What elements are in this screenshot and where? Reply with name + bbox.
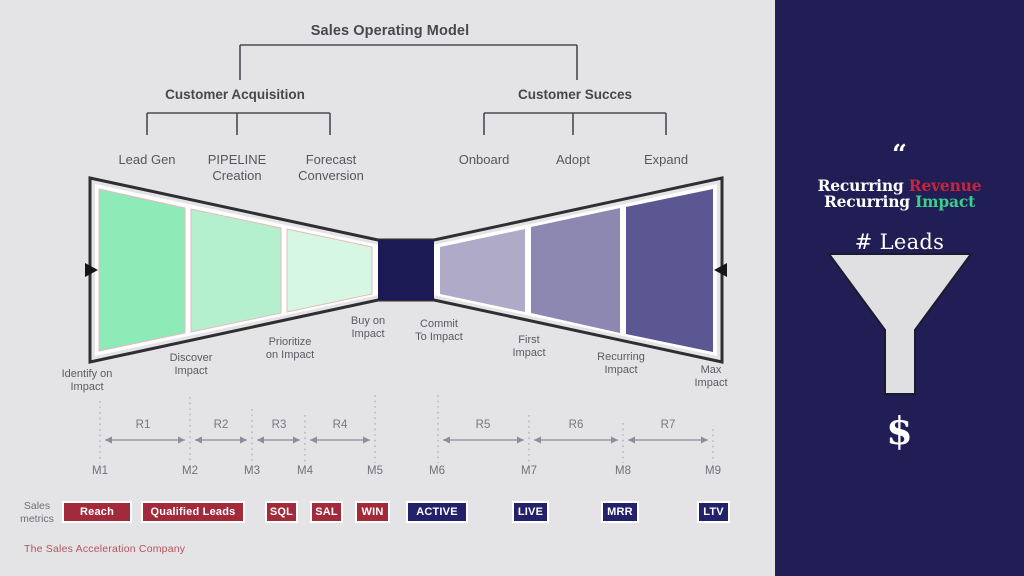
slogan-line-2-prefix: Recurring xyxy=(824,192,915,211)
metric-badge-win[interactable]: WIN xyxy=(355,501,390,523)
timeline-ratio-r3: R3 xyxy=(249,419,309,431)
metric-badge-active[interactable]: ACTIVE xyxy=(406,501,468,523)
branch-customer-acquisition: Customer Acquisition xyxy=(135,87,335,103)
sales-metrics-label: Sales metrics xyxy=(14,500,60,526)
stage-caption-prioritize: Prioritize on Impact xyxy=(245,336,335,362)
slogan-line-2: Recurring Impact xyxy=(775,192,1024,211)
timeline-milestone-m3: M3 xyxy=(222,465,282,477)
stage-caption-first: First Impact xyxy=(484,334,574,360)
slogan-line-2-accent: Impact xyxy=(915,192,975,211)
metric-badge-live[interactable]: LIVE xyxy=(512,501,549,523)
company-tagline: The Sales Acceleration Company xyxy=(24,543,185,555)
timeline-milestone-m4: M4 xyxy=(275,465,335,477)
timeline-ratio-r6: R6 xyxy=(546,419,606,431)
metric-badge-ltv[interactable]: LTV xyxy=(697,501,730,523)
metric-badge-reach[interactable]: Reach xyxy=(62,501,132,523)
timeline-milestone-m1: M1 xyxy=(70,465,130,477)
model-title: Sales Operating Model xyxy=(255,23,525,40)
stage-caption-max: Max Impact xyxy=(666,364,756,390)
timeline-milestone-m2: M2 xyxy=(160,465,220,477)
timeline-ratio-r5: R5 xyxy=(453,419,513,431)
dollar-sign-icon: $ xyxy=(775,412,1024,450)
metric-badge-mrr[interactable]: MRR xyxy=(601,501,639,523)
timeline-ratio-r4: R4 xyxy=(310,419,370,431)
metric-badge-qualified-leads[interactable]: Qualified Leads xyxy=(141,501,245,523)
funnel-segment-center xyxy=(378,240,434,300)
timeline-milestone-m6: M6 xyxy=(407,465,467,477)
timeline-ratio-r2: R2 xyxy=(191,419,251,431)
funnel-icon xyxy=(827,252,973,396)
stage-caption-identify: Identify on Impact xyxy=(42,368,132,394)
timeline-ratio-r1: R1 xyxy=(113,419,173,431)
funnel-segment-discover xyxy=(191,209,281,332)
branch-customer-success: Customer Succes xyxy=(475,87,675,103)
funnel-segment-identify xyxy=(99,189,185,351)
quote-mark-icon: “ xyxy=(775,142,1024,168)
slide-canvas: Sales Operating Model Customer Acquisiti… xyxy=(0,0,1024,576)
metric-badge-sal[interactable]: SAL xyxy=(310,501,343,523)
stage-caption-discover: Discover Impact xyxy=(146,352,236,378)
timeline-milestone-m9: M9 xyxy=(683,465,743,477)
stage-caption-recurring: Recurring Impact xyxy=(576,351,666,377)
timeline-ratio-r7: R7 xyxy=(638,419,698,431)
sidebar-panel: “ Recurring Revenue Recurring Impact # L… xyxy=(775,0,1024,576)
stage-caption-commit: Commit To Impact xyxy=(394,318,484,344)
timeline-milestone-m5: M5 xyxy=(345,465,405,477)
timeline-milestone-m7: M7 xyxy=(499,465,559,477)
funnel-segment-max xyxy=(626,189,713,352)
diagram-stage: Sales Operating Model Customer Acquisiti… xyxy=(0,0,775,576)
metric-badge-sql[interactable]: SQL xyxy=(265,501,298,523)
funnel-segment-recurring xyxy=(531,208,620,333)
leads-title: # Leads xyxy=(775,230,1024,254)
timeline-milestone-m8: M8 xyxy=(593,465,653,477)
bowtie-funnel xyxy=(0,165,775,380)
